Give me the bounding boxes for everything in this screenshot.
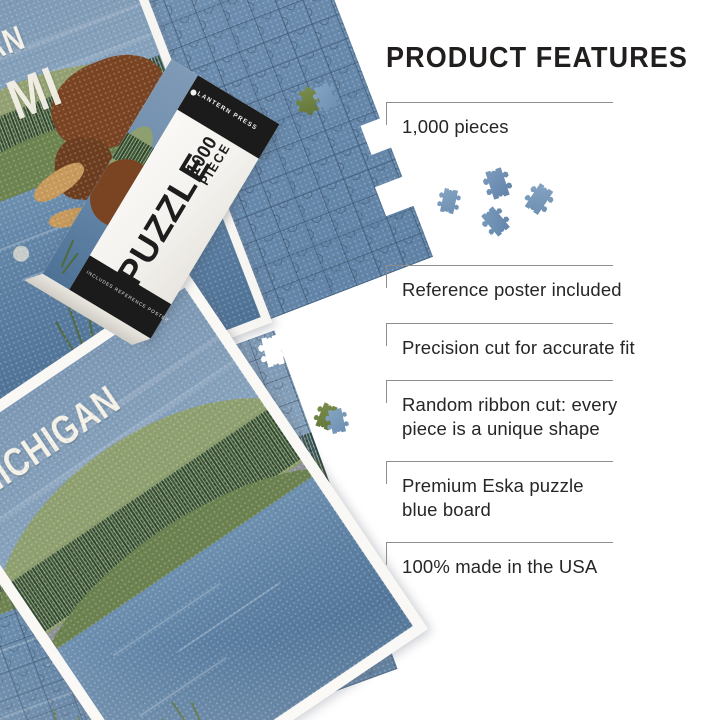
feature-tick bbox=[386, 323, 387, 346]
feature-row: Random ribbon cut: every piece is a uniq… bbox=[386, 380, 686, 440]
feature-row: Premium Eska puzzle blue board bbox=[386, 461, 686, 521]
feature-row: 1,000 pieces bbox=[386, 102, 686, 138]
feature-label: Premium Eska puzzle blue board bbox=[402, 474, 686, 521]
feature-rule bbox=[386, 380, 613, 381]
feature-label: Precision cut for accurate fit bbox=[402, 336, 686, 359]
feature-rule bbox=[386, 542, 613, 543]
feature-label: 1,000 pieces bbox=[402, 115, 686, 138]
feature-label: Random ribbon cut: every piece is a uniq… bbox=[402, 393, 686, 440]
feature-label: 100% made in the USA bbox=[402, 555, 686, 578]
feature-tick bbox=[386, 102, 387, 125]
feature-label: Reference poster included bbox=[402, 278, 686, 301]
feature-row: 100% made in the USA bbox=[386, 542, 686, 578]
feature-rule bbox=[386, 102, 613, 103]
feature-rule bbox=[386, 461, 613, 462]
loose-piece-blue-6 bbox=[323, 407, 351, 435]
feature-rule bbox=[386, 323, 613, 324]
feature-row: Precision cut for accurate fit bbox=[386, 323, 686, 359]
page-title: PRODUCT FEATURES bbox=[386, 44, 665, 73]
feature-tick bbox=[386, 461, 387, 484]
feature-rule bbox=[386, 265, 613, 266]
feature-tick bbox=[386, 542, 387, 565]
product-image: MICHIGAN MI MICHIGAN bbox=[0, 0, 720, 720]
product-features-panel: PRODUCT FEATURES 1,000 pieces Reference … bbox=[386, 44, 686, 579]
feature-tick bbox=[386, 265, 387, 288]
feature-row: Reference poster included bbox=[386, 265, 686, 301]
feature-tick bbox=[386, 380, 387, 403]
